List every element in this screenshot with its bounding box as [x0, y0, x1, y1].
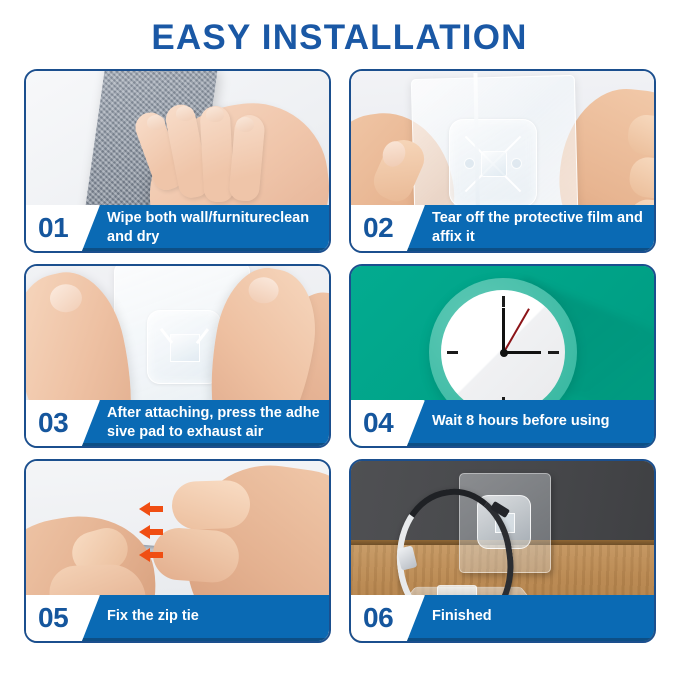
clock-hour-hand: [503, 351, 541, 354]
pad-hole: [464, 158, 475, 169]
fingernail: [49, 284, 82, 313]
fingernail: [248, 277, 279, 304]
step-caption-02: 02 Tear off the protective film and affi…: [351, 205, 654, 251]
step-caption-04: 04 Wait 8 hours before using: [351, 400, 654, 446]
step-caption-text: Fix the zip tie: [107, 607, 321, 626]
clock-face: [441, 290, 565, 414]
arrow-stem: [150, 529, 163, 535]
step-caption-line1: Wipe both wall/furnitureclean: [107, 209, 321, 228]
step-caption-line1: Tear off the protective film and: [432, 209, 646, 228]
step-number: 05: [38, 602, 68, 634]
clock-tick-9: [447, 351, 458, 354]
direction-arrow-icon: [139, 548, 150, 562]
step-caption-06: 06 Finished: [351, 595, 654, 641]
step-card-05: 05 Fix the zip tie: [24, 459, 331, 643]
step-caption-line2: sive pad to exhaust air: [107, 423, 321, 442]
step-card-03: 03 After attaching, press the adhe sive …: [24, 264, 331, 448]
step-caption-text: After attaching, press the adhe sive pad…: [107, 404, 321, 441]
step-number: 06: [363, 602, 393, 634]
finger: [628, 156, 654, 200]
step-caption-text: Finished: [432, 607, 646, 626]
step-caption-text: Tear off the protective film and affix i…: [432, 209, 646, 246]
fingernail: [236, 117, 254, 132]
fingernail: [176, 106, 194, 121]
step-number: 02: [363, 212, 393, 244]
clock-tick-3: [548, 351, 559, 354]
step-card-06: 06 Finished: [349, 459, 656, 643]
step-card-02: 02 Tear off the protective film and affi…: [349, 69, 656, 253]
fingernail: [147, 115, 165, 130]
finger: [171, 480, 251, 531]
step-card-04: 04 Wait 8 hours before using: [349, 264, 656, 448]
step-caption-line1: Wait 8 hours before using: [432, 412, 646, 431]
step-caption-line1: After attaching, press the adhe: [107, 404, 321, 423]
fingernail: [206, 107, 224, 122]
direction-arrow-icon: [139, 525, 150, 539]
step-number: 04: [363, 407, 393, 439]
arrow-stem: [150, 552, 163, 558]
adhesive-hook-pad: [449, 119, 537, 207]
step-caption-text: Wipe both wall/furnitureclean and dry: [107, 209, 321, 246]
step-caption-03: 03 After attaching, press the adhe sive …: [26, 400, 329, 446]
step-caption-line2: and dry: [107, 228, 321, 247]
step-caption-line2: affix it: [432, 228, 646, 247]
installation-infographic: EASY INSTALLATION 01: [0, 0, 679, 679]
step-card-01: 01 Wipe both wall/furnitureclean and dry: [24, 69, 331, 253]
pad-hole: [511, 158, 522, 169]
pad-center-square: [481, 151, 507, 177]
clock-minute-hand: [502, 308, 505, 354]
page-title: EASY INSTALLATION: [0, 18, 679, 58]
step-number: 03: [38, 407, 68, 439]
step-caption-line1: Fix the zip tie: [107, 607, 321, 626]
steps-grid: 01 Wipe both wall/furnitureclean and dry: [24, 69, 656, 652]
step-caption-01: 01 Wipe both wall/furnitureclean and dry: [26, 205, 329, 251]
finger: [626, 113, 654, 157]
pad-center-square: [170, 334, 200, 362]
step-caption-text: Wait 8 hours before using: [432, 412, 646, 431]
step-caption-05: 05 Fix the zip tie: [26, 595, 329, 641]
step-number: 01: [38, 212, 68, 244]
adhesive-hook-pad: [147, 310, 221, 384]
direction-arrow-icon: [139, 502, 150, 516]
clock-second-hand: [503, 308, 530, 352]
thumb: [151, 526, 240, 584]
clock-tick-12: [502, 296, 505, 307]
arrow-stem: [150, 506, 163, 512]
step-caption-line1: Finished: [432, 607, 646, 626]
clock-center-pivot: [500, 349, 508, 357]
